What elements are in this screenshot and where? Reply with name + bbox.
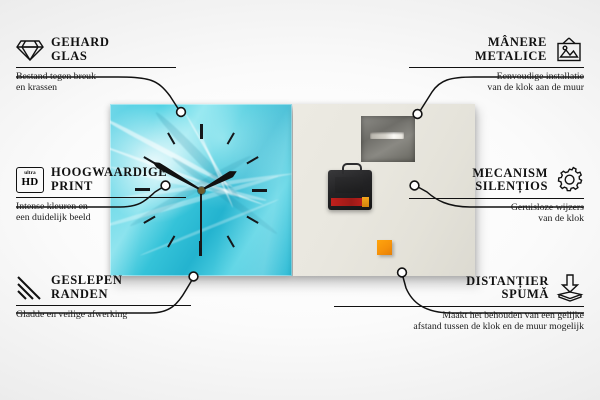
callout-mecanism-silentios[interactable]: MECANISM SILENȚIOS Geruisloze wijzers va… <box>409 166 584 225</box>
hanger-keyhole-slot <box>370 132 404 139</box>
callout-geslepen-randen[interactable]: GESLEPEN RANDEN Gladde en veilige afwerk… <box>16 274 191 320</box>
picture-hanger-icon <box>554 37 584 63</box>
clock-center-cap <box>198 187 205 194</box>
mechanism-body-detail <box>335 177 363 193</box>
callout-subtitle: Gladde en veilige afwerking <box>16 309 191 320</box>
callout-head: GEHARD GLAS <box>16 36 176 63</box>
callout-title: GEHARD GLAS <box>51 36 109 63</box>
clock-second-hand <box>200 190 202 248</box>
callout-subtitle: Bestand tegen breuk en krassen <box>16 71 176 94</box>
metal-hanger-plate <box>361 116 415 162</box>
callout-head: GESLEPEN RANDEN <box>16 274 191 301</box>
callout-subtitle: Geruisloze wijzers van de klok <box>409 202 584 225</box>
callout-title: GESLEPEN RANDEN <box>51 274 123 301</box>
down-arrow-pad-icon <box>556 274 584 302</box>
callout-manere-metalice[interactable]: MÂNERE METALICE Eenvoudige installatie v… <box>409 36 584 94</box>
callout-hoogwaardige-print[interactable]: ultra HD HOOGWAARDIGE PRINT Intense kleu… <box>16 166 186 224</box>
ultra-hd-icon: ultra HD <box>16 167 44 193</box>
clock-mechanism-box <box>328 170 372 210</box>
callout-title: MÂNERE METALICE <box>475 36 547 63</box>
callout-rule <box>409 67 584 68</box>
callout-subtitle: Intense kleuren en een duidelijk beeld <box>16 201 186 224</box>
callout-head: MÂNERE METALICE <box>409 36 584 63</box>
callout-subtitle: Maakt het behouden van een gelijke afsta… <box>334 310 584 333</box>
foam-spacer <box>377 240 392 255</box>
diamond-icon <box>16 38 44 62</box>
callout-subtitle: Eenvoudige installatie van de klok aan d… <box>409 71 584 94</box>
gear-icon <box>555 166 584 194</box>
callout-head: MECANISM SILENȚIOS <box>409 166 584 194</box>
callout-rule <box>16 305 191 306</box>
callout-title: HOOGWAARDIGE PRINT <box>51 166 167 193</box>
callout-title: DISTANȚIER SPUMĂ <box>466 275 549 302</box>
mechanism-hanging-loop <box>342 163 362 174</box>
callout-rule <box>409 198 584 199</box>
callout-head: ultra HD HOOGWAARDIGE PRINT <box>16 166 186 193</box>
beveled-edges-icon <box>16 275 44 301</box>
callout-gehard-glas[interactable]: GEHARD GLAS Bestand tegen breuk en krass… <box>16 36 176 94</box>
callout-rule <box>16 197 186 198</box>
mechanism-red-label <box>331 198 365 206</box>
mechanism-orange-label <box>362 197 369 207</box>
callout-rule <box>334 306 584 307</box>
infographic-canvas: GEHARD GLAS Bestand tegen breuk en krass… <box>0 0 600 400</box>
callout-head: DISTANȚIER SPUMĂ <box>334 274 584 302</box>
callout-title: MECANISM SILENȚIOS <box>472 167 548 194</box>
callout-distantier-spuma[interactable]: DISTANȚIER SPUMĂ Maakt het behouden van … <box>334 274 584 333</box>
callout-rule <box>16 67 176 68</box>
